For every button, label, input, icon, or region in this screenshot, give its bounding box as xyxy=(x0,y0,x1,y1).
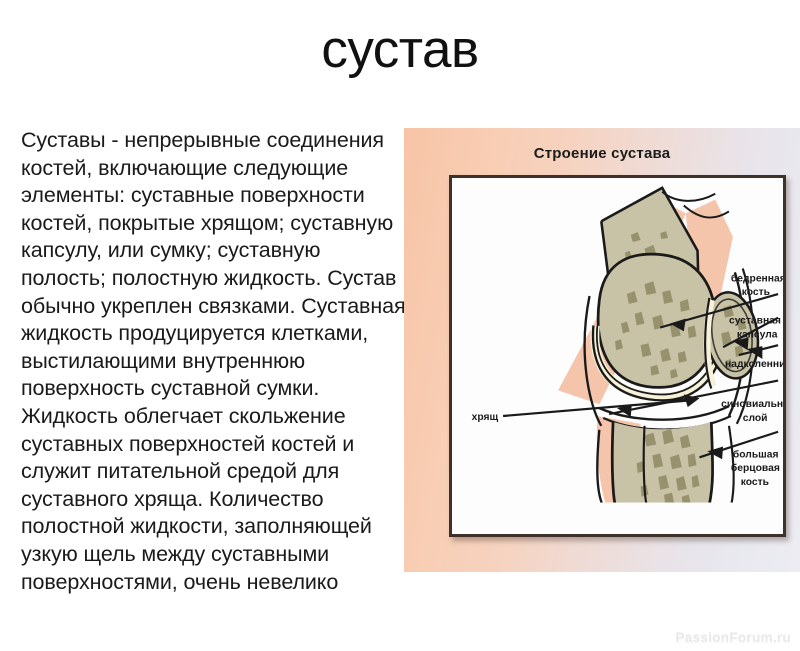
diagram-board: бедренная кость суставная капсула надкол… xyxy=(449,175,786,537)
label-femur-line1: бедренная xyxy=(731,272,783,284)
label-cartilage: хрящ xyxy=(472,412,499,423)
label-femur-line2: кость xyxy=(742,287,770,298)
watermark: PassionForum.ru xyxy=(675,630,791,645)
label-capsule-line1: суставная xyxy=(729,316,781,327)
figure-panel: Строение сустава xyxy=(404,128,800,572)
label-patella: надколенник xyxy=(725,359,783,370)
body-paragraph: Суставы - непрерывные соединения костей,… xyxy=(21,127,406,596)
figure-caption: Строение сустава xyxy=(404,145,800,162)
label-tibia-line2: берцовая xyxy=(731,462,780,474)
femur-condyle xyxy=(598,254,715,387)
knee-joint-diagram: бедренная кость суставная капсула надкол… xyxy=(452,178,783,534)
label-tibia-line1: большая xyxy=(733,448,779,460)
label-capsule-line2: капсула xyxy=(737,329,778,340)
label-tibia-line3: кость xyxy=(741,477,769,488)
label-synovial-line2: слой xyxy=(743,413,768,424)
label-synovial-line1: синовиальный xyxy=(721,399,783,410)
page-title: сустав xyxy=(0,22,800,78)
